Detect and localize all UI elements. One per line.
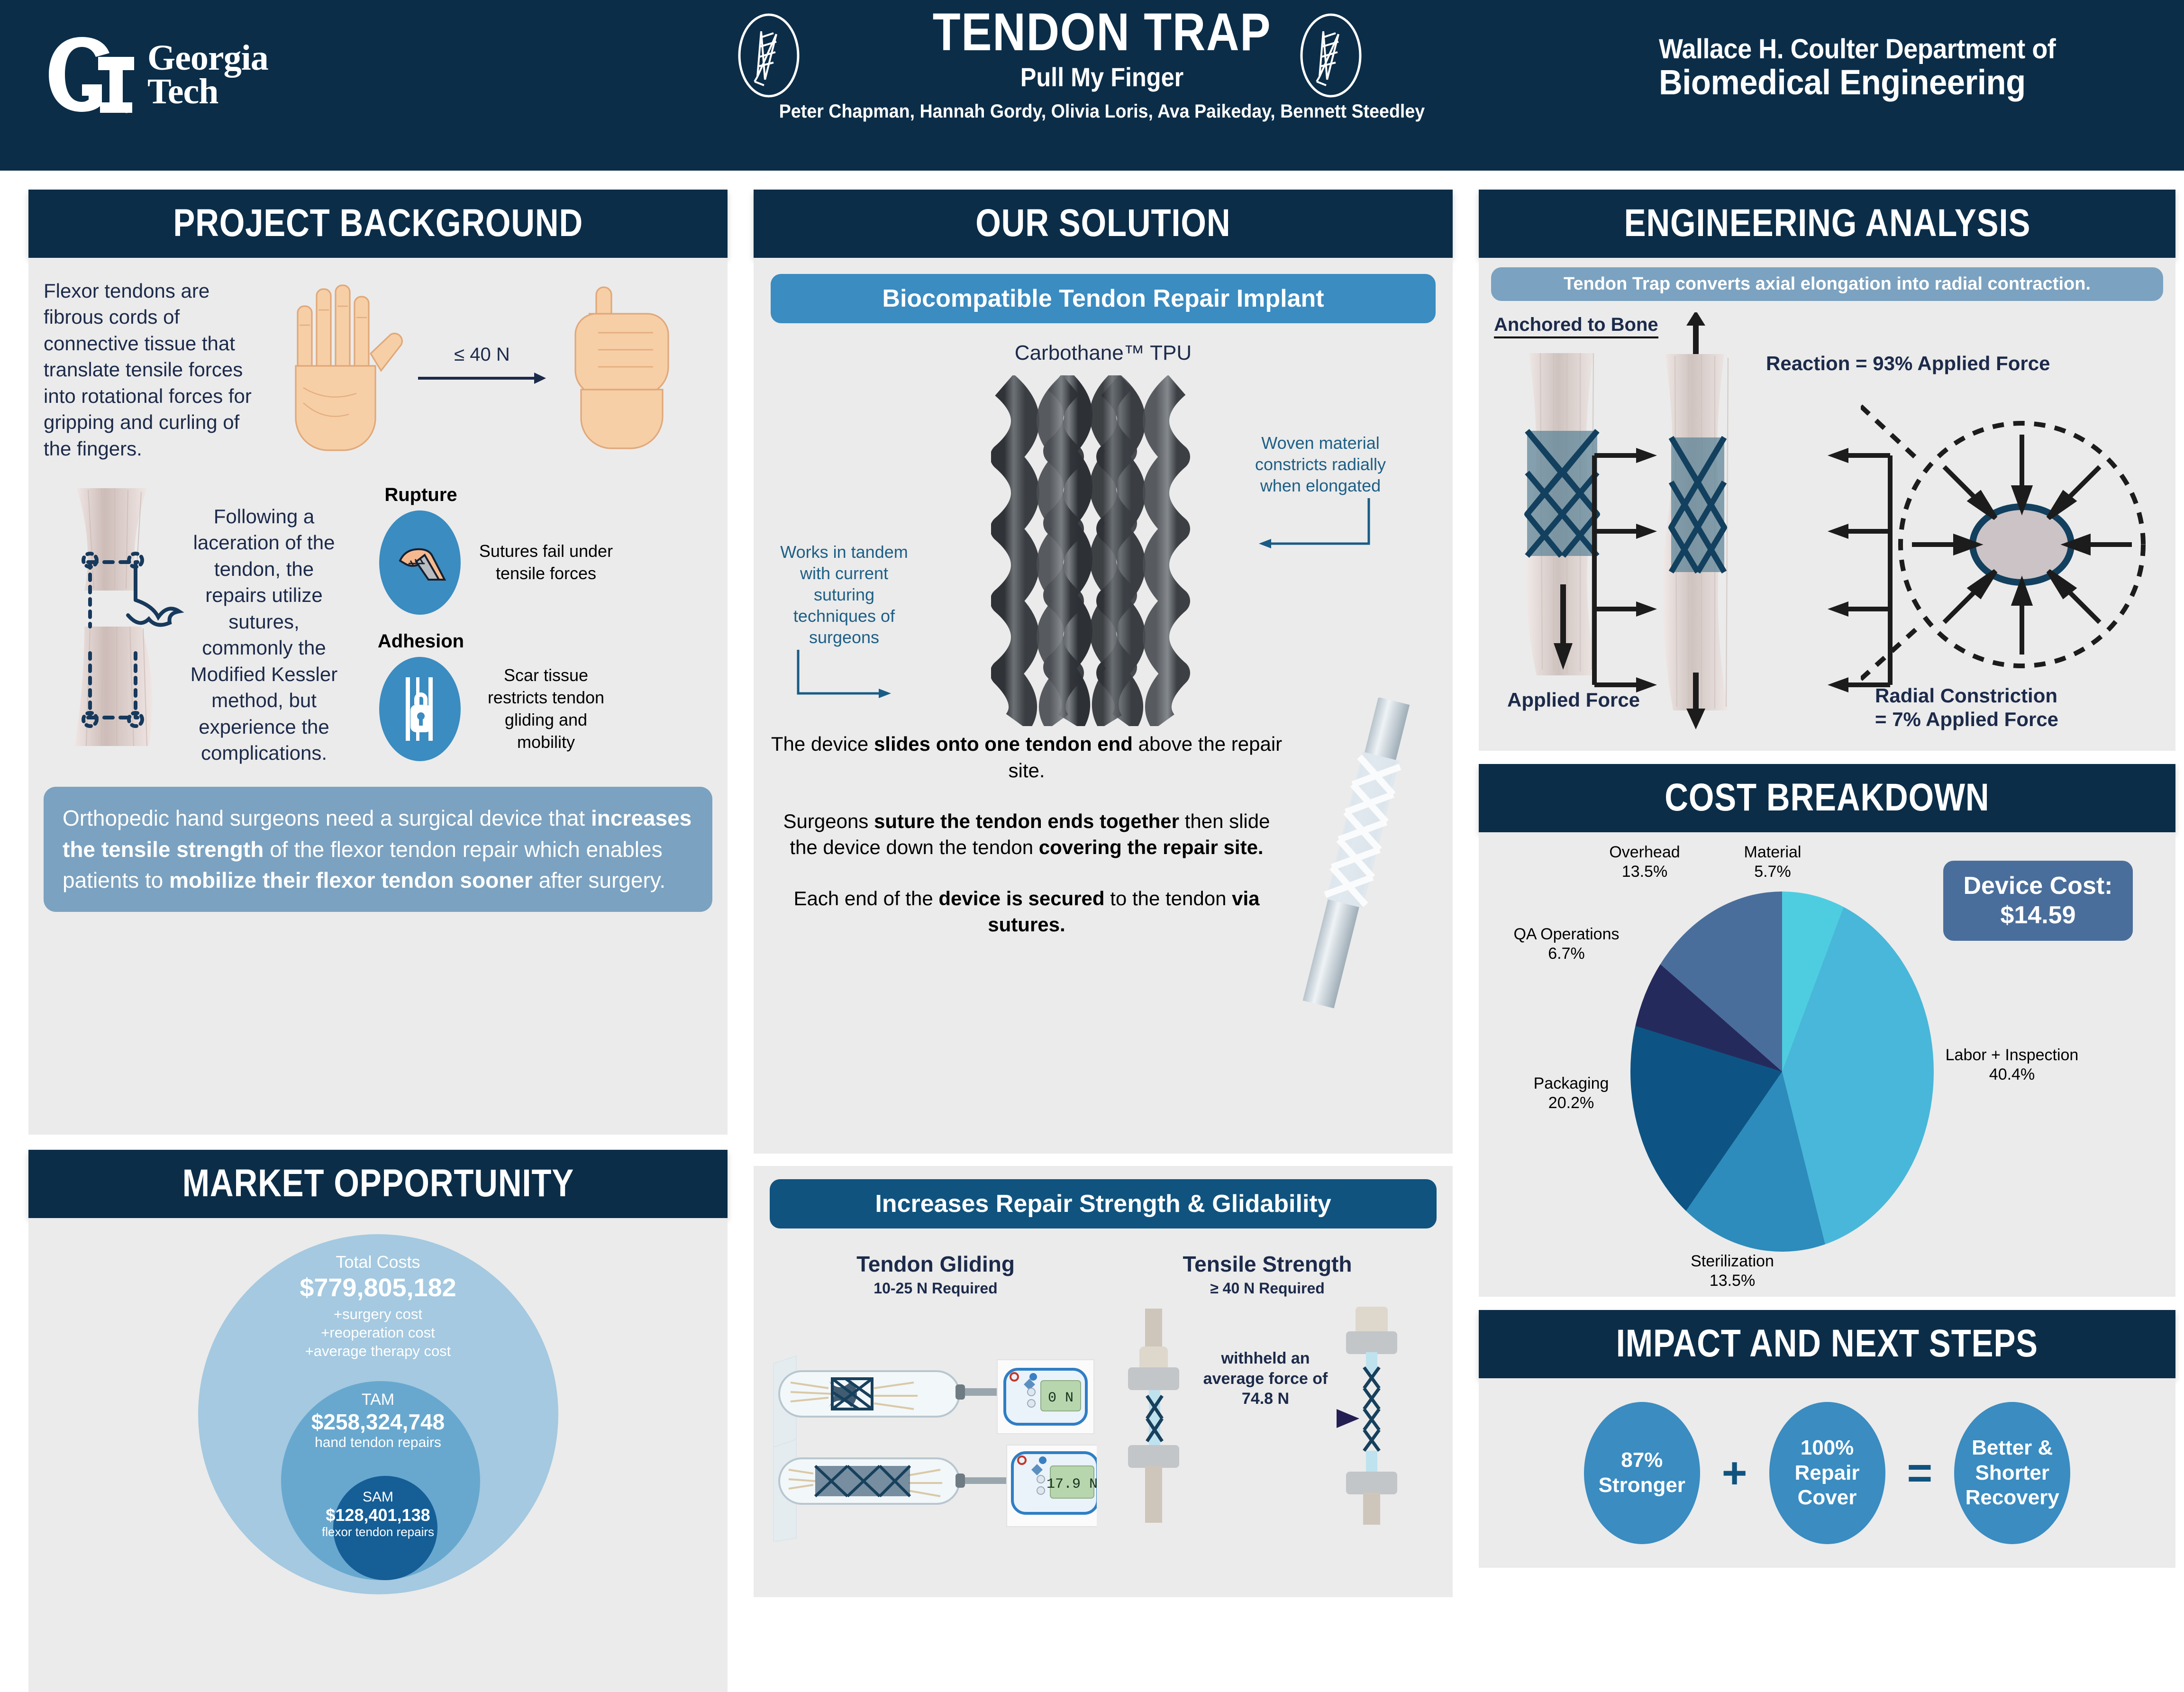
- section-header-market-opportunity: MARKET OPPORTUNITY: [28, 1150, 728, 1218]
- impact-stat-stronger: 87% Stronger: [1584, 1402, 1700, 1544]
- reaction-force-label: Reaction = 93% Applied Force: [1766, 352, 2050, 375]
- pie-label-labor-pct: 40.4%: [1934, 1065, 2090, 1084]
- impact-outcome-line-2: Shorter: [1966, 1461, 2059, 1486]
- pie-label-sterilization-name: Sterilization: [1673, 1252, 1792, 1271]
- panel-testing: Increases Repair Strength & Glidability …: [754, 1166, 1453, 1597]
- need-bold-2: mobilize their flexor tendon sooner: [169, 868, 533, 892]
- pie-label-sterilization-pct: 13.5%: [1673, 1271, 1792, 1291]
- section-header-cost-breakdown: COST BREAKDOWN: [1479, 764, 2175, 832]
- section-title-text: PROJECT BACKGROUND: [173, 201, 583, 246]
- material-label: Carbothane™ TPU: [771, 339, 1436, 367]
- device-cost-value: $14.59: [1955, 901, 2121, 930]
- coulter-department-logo: Wallace H. Coulter Department of Biomedi…: [1659, 33, 2147, 102]
- force-arrow-icon: [418, 371, 546, 385]
- impact-outcome-line-3: Recovery: [1966, 1485, 2059, 1510]
- venn-sam-note: flexor tendon repairs: [198, 1525, 558, 1539]
- section-header-impact: IMPACT AND NEXT STEPS: [1479, 1310, 2175, 1378]
- column-right: ENGINEERING ANALYSIS Tendon Trap convert…: [1479, 190, 2175, 1568]
- device-emblem-right-icon: [1298, 10, 1364, 100]
- complication-adhesion: Adhesion: [350, 631, 674, 761]
- test-tendon-gliding: Tendon Gliding 10-25 N Required: [770, 1251, 1101, 1544]
- pie-label-labor-name: Labor + Inspection: [1934, 1046, 2090, 1065]
- tendon-lock-icon: [379, 657, 461, 761]
- complication-label-rupture: Rupture: [350, 484, 492, 506]
- test-tensile-requirement: ≥ 40 N Required: [1101, 1280, 1433, 1297]
- braided-device-icon: [991, 375, 1190, 726]
- poster-root: Georgia Tech TENDON TRAP Pull My Finger …: [0, 0, 2184, 1638]
- step-2-b: suture the tendon ends together: [874, 810, 1179, 832]
- poster-header: Georgia Tech TENDON TRAP Pull My Finger …: [0, 0, 2184, 171]
- complication-label-adhesion: Adhesion: [350, 631, 492, 652]
- device-cost-label: Device Cost:: [1955, 871, 2121, 901]
- panel-project-background: Flexor tendons are fibrous cords of conn…: [28, 258, 728, 1135]
- finger-rupture-icon: [379, 510, 461, 615]
- section-title-text: MARKET OPPORTUNITY: [182, 1161, 573, 1206]
- venn-tam-group: TAM $258,324,748 hand tendon repairs: [198, 1391, 558, 1451]
- complication-text-rupture: Sutures fail under tensile forces: [475, 540, 617, 585]
- venn-tam-value: $258,324,748: [198, 1409, 558, 1435]
- section-title-text: OUR SOLUTION: [975, 201, 1230, 246]
- pie-label-labor: Labor + Inspection 40.4%: [1934, 1046, 2090, 1084]
- step-3: Each end of the device is secured to the…: [771, 885, 1283, 938]
- poster-authors: Peter Chapman, Hannah Gordy, Olivia Lori…: [735, 101, 1470, 122]
- testing-pill: Increases Repair Strength & Glidability: [770, 1179, 1437, 1228]
- radial-constriction-line-1: Radial Constriction: [1875, 684, 2058, 708]
- pie-label-packaging-name: Packaging: [1517, 1074, 1626, 1093]
- venn-total-value: $779,805,182: [198, 1273, 558, 1302]
- coulter-line-1: Wallace H. Coulter Department of: [1659, 33, 2113, 65]
- pie-label-qa-name: QA Operations: [1507, 925, 1626, 944]
- market-venn-diagram: Total Costs $779,805,182 +surgery cost +…: [198, 1234, 558, 1594]
- test-tensile-title: Tensile Strength: [1101, 1251, 1433, 1277]
- radial-constriction-label: Radial Constriction = 7% Applied Force: [1875, 684, 2058, 732]
- venn-sam-value: $128,401,138: [198, 1505, 558, 1525]
- device-render-group: Works in tandem with current suturing te…: [771, 371, 1436, 750]
- complications-group: Rupture: [342, 484, 674, 761]
- test-gliding-requirement: 10-25 N Required: [770, 1280, 1101, 1297]
- section-title-text: ENGINEERING ANALYSIS: [1624, 201, 2030, 246]
- step-1-a: The device: [771, 733, 874, 755]
- open-hand-icon: [271, 276, 413, 461]
- panel-impact: 87% Stronger + 100% Repair Cover = Bette…: [1479, 1378, 2175, 1568]
- section-header-engineering-analysis: ENGINEERING ANALYSIS: [1479, 190, 2175, 258]
- pie-label-material-pct: 5.7%: [1725, 862, 1820, 882]
- impact-stat-1-label: Stronger: [1599, 1473, 1685, 1498]
- pie-label-qa-pct: 6.7%: [1507, 944, 1626, 964]
- section-title-text: IMPACT AND NEXT STEPS: [1616, 1321, 2038, 1366]
- test-tensile-strength: Tensile Strength ≥ 40 N Required: [1101, 1251, 1433, 1544]
- force-annotation-group: ≤ 40 N: [418, 342, 546, 388]
- step-2-a: Surgeons: [783, 810, 874, 832]
- georgia-tech-logo: Georgia Tech: [45, 33, 268, 116]
- need-part-3: after surgery.: [533, 868, 665, 892]
- hand-illustration-group: ≤ 40 N: [266, 271, 707, 470]
- pie-label-packaging: Packaging 20.2%: [1517, 1074, 1626, 1113]
- complication-rupture: Rupture: [350, 484, 674, 615]
- impact-stat-1-value: 87%: [1599, 1448, 1685, 1473]
- analysis-diagram-group: Anchored to Bone: [1491, 309, 2163, 741]
- repair-method-text: Following a laceration of the tendon, th…: [186, 484, 342, 766]
- step-2: Surgeons suture the tendon ends together…: [771, 808, 1283, 861]
- gliding-test-diagram: 0 N: [770, 1305, 1097, 1542]
- callout-right-text: Woven material constricts radially when …: [1245, 432, 1396, 496]
- device-on-tendon-photo: [1281, 698, 1442, 1010]
- step-1-b: slides onto one tendon end: [874, 733, 1133, 755]
- pie-label-packaging-pct: 20.2%: [1517, 1093, 1626, 1113]
- pie-label-material: Material 5.7%: [1725, 843, 1820, 882]
- column-left: PROJECT BACKGROUND Flexor tendons are fi…: [28, 190, 728, 1692]
- device-cost-badge: Device Cost: $14.59: [1943, 861, 2133, 941]
- impact-stat-repair-cover: 100% Repair Cover: [1769, 1402, 1885, 1544]
- step-1: The device slides onto one tendon end ab…: [771, 731, 1283, 783]
- panel-market-opportunity: Total Costs $779,805,182 +surgery cost +…: [28, 1218, 728, 1692]
- section-header-project-background: PROJECT BACKGROUND: [28, 190, 728, 258]
- coulter-line-2: Biomedical Engineering: [1659, 62, 2113, 102]
- impact-outcome-line-1: Better &: [1966, 1436, 2059, 1461]
- impact-outcome-recovery: Better & Shorter Recovery: [1954, 1402, 2070, 1544]
- venn-sam-label: SAM: [198, 1489, 558, 1505]
- plus-operator-icon: +: [1722, 1448, 1747, 1498]
- venn-total-note-0: +surgery cost: [198, 1305, 558, 1324]
- implant-pill: Biocompatible Tendon Repair Implant: [771, 274, 1436, 323]
- venn-total-note-1: +reoperation cost: [198, 1324, 558, 1342]
- pie-graphic: [1630, 891, 1934, 1252]
- impact-stat-2-label-b: Cover: [1795, 1485, 1860, 1510]
- venn-total-label: Total Costs: [198, 1252, 558, 1272]
- venn-tam-label: TAM: [198, 1391, 558, 1409]
- step-3-b: device is secured: [938, 887, 1104, 910]
- georgia-tech-wordmark: Georgia Tech: [147, 41, 268, 108]
- background-intro-text: Flexor tendons are fibrous cords of conn…: [44, 271, 266, 462]
- step-2-d: covering the repair site.: [1039, 836, 1264, 858]
- step-3-a: Each end of the: [793, 887, 938, 910]
- cost-pie-chart: Material 5.7% Overhead 13.5% QA Operatio…: [1602, 851, 1962, 1278]
- analysis-pill: Tendon Trap converts axial elongation in…: [1491, 267, 2163, 301]
- equals-operator-icon: =: [1907, 1448, 1933, 1498]
- callout-left-text: Works in tandem with current suturing te…: [775, 541, 913, 648]
- gt-monogram-icon: [45, 33, 135, 116]
- venn-tam-note: hand tendon repairs: [198, 1435, 558, 1451]
- procedure-steps-group: The device slides onto one tendon end ab…: [771, 731, 1436, 938]
- panel-engineering-analysis: Tendon Trap converts axial elongation in…: [1479, 258, 2175, 751]
- impact-stat-2-value: 100%: [1795, 1436, 1860, 1461]
- title-block: TENDON TRAP Pull My Finger Peter Chapman…: [711, 6, 1493, 122]
- section-title-text: COST BREAKDOWN: [1665, 775, 1989, 820]
- pie-label-overhead-name: Overhead: [1588, 843, 1702, 862]
- callout-left-arrow-icon: [775, 650, 913, 707]
- impact-stat-2-label-a: Repair: [1795, 1461, 1860, 1486]
- sutured-tendon-illustration: [48, 484, 186, 750]
- need-statement-box: Orthopedic hand surgeons need a surgical…: [44, 787, 712, 912]
- closed-fist-icon: [560, 276, 688, 456]
- panel-our-solution: Biocompatible Tendon Repair Implant Carb…: [754, 258, 1453, 1154]
- tensile-result-text: withheld an average force of 74.8 N: [1194, 1348, 1337, 1409]
- callout-right-group: Woven material constricts radially when …: [1245, 432, 1396, 562]
- complication-text-adhesion: Scar tissue restricts tendon gliding and…: [475, 664, 617, 753]
- test-gliding-title: Tendon Gliding: [770, 1251, 1101, 1277]
- section-header-our-solution: OUR SOLUTION: [754, 190, 1453, 258]
- venn-total-note-2: +average therapy cost: [198, 1342, 558, 1361]
- cross-section-constriction-icon: [1861, 395, 2159, 698]
- radial-constriction-line-2: = 7% Applied Force: [1875, 708, 2058, 731]
- svg-text:17.9 N: 17.9 N: [1046, 1476, 1097, 1492]
- pie-label-overhead: Overhead 13.5%: [1588, 843, 1702, 882]
- radial-force-arrows-icon: [1591, 442, 1728, 698]
- panel-cost-breakdown: Material 5.7% Overhead 13.5% QA Operatio…: [1479, 832, 2175, 1297]
- pie-label-overhead-pct: 13.5%: [1588, 862, 1702, 882]
- column-middle: OUR SOLUTION Biocompatible Tendon Repair…: [754, 190, 1453, 1597]
- tensile-test-diagram: [1101, 1305, 1424, 1528]
- svg-text:0 N: 0 N: [1048, 1390, 1074, 1406]
- step-3-c: to the tendon: [1105, 887, 1232, 910]
- pie-label-qa: QA Operations 6.7%: [1507, 925, 1626, 964]
- pie-label-material-name: Material: [1725, 843, 1820, 862]
- gt-word-tech: Tech: [147, 75, 268, 109]
- callout-right-arrow-icon: [1245, 498, 1396, 560]
- callout-left-group: Works in tandem with current suturing te…: [775, 541, 913, 709]
- gt-word-georgia: Georgia: [147, 41, 268, 75]
- force-label: ≤ 40 N: [418, 342, 546, 367]
- pie-label-sterilization: Sterilization 13.5%: [1673, 1252, 1792, 1291]
- venn-total-group: Total Costs $779,805,182 +surgery cost +…: [198, 1252, 558, 1360]
- need-part-1: Orthopedic hand surgeons need a surgical…: [63, 806, 591, 830]
- venn-sam-group: SAM $128,401,138 flexor tendon repairs: [198, 1489, 558, 1539]
